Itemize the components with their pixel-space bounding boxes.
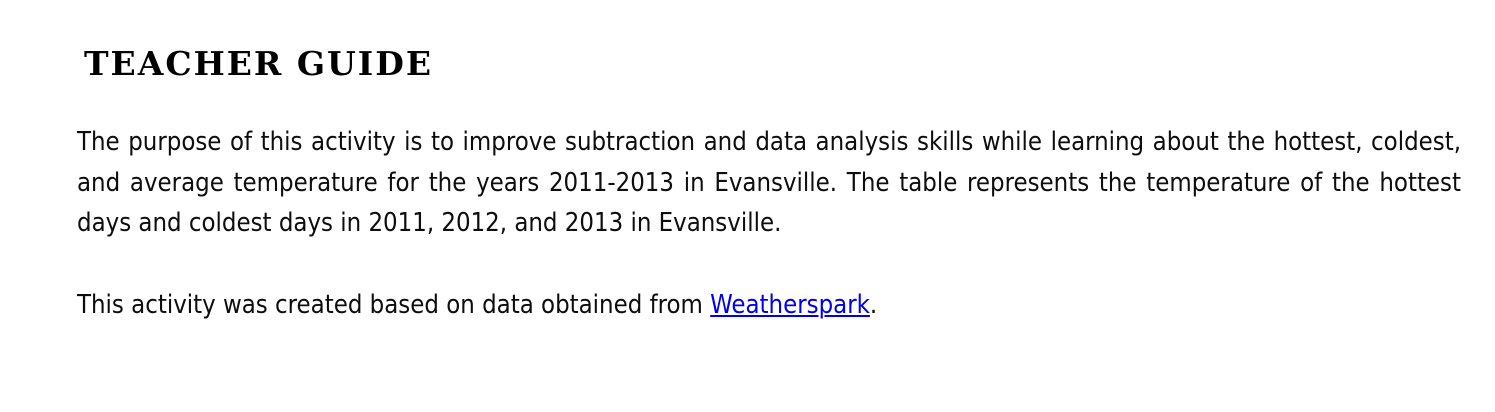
attribution-lead-text: This activity was created based on data … — [77, 290, 710, 320]
attribution-trailing-text: . — [870, 290, 877, 320]
weatherspark-link[interactable]: Weatherspark — [710, 290, 870, 320]
paragraph-spacer — [77, 244, 1461, 285]
page-title: TEACHER GUIDE — [84, 44, 433, 84]
paragraph-attribution: This activity was created based on data … — [77, 285, 1461, 326]
document-body: The purpose of this activity is to impro… — [77, 122, 1461, 325]
document-page: TEACHER GUIDE The purpose of this activi… — [0, 0, 1495, 412]
paragraph-purpose: The purpose of this activity is to impro… — [77, 122, 1461, 244]
